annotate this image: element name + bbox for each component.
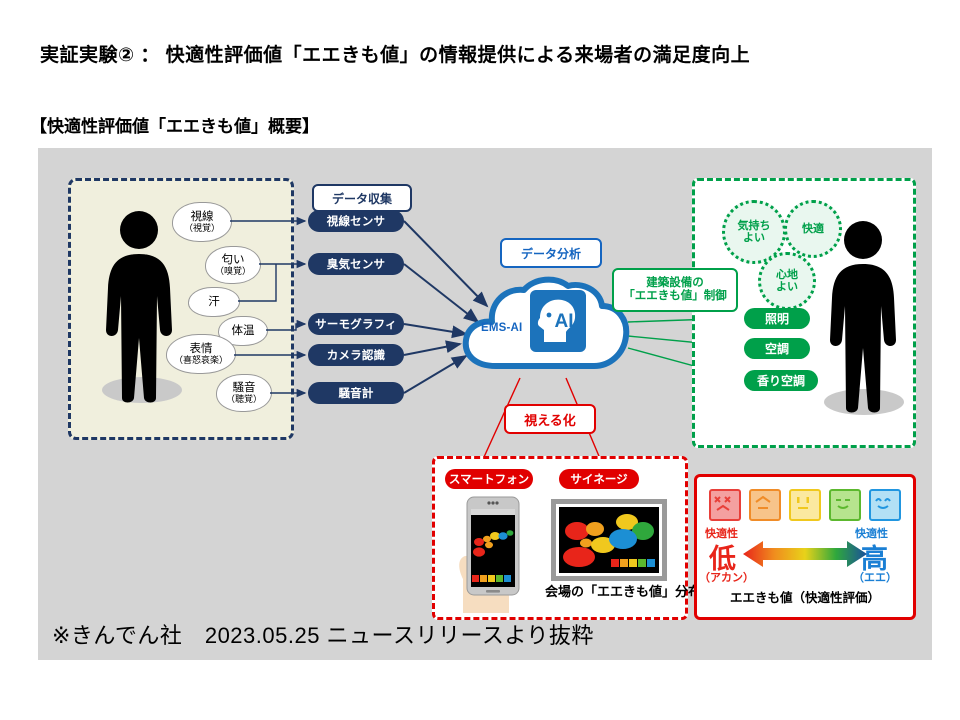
ai-brain-icon: AI [530, 290, 586, 352]
sensor-pill-camera[interactable]: カメラ認識 [308, 344, 404, 366]
signage-display-illustration [551, 499, 667, 581]
comfort-gradient-arrow [743, 539, 867, 569]
visualization-heading: 視える化 [504, 404, 596, 434]
sensor-pill-sound-meter[interactable]: 騒音計 [308, 382, 404, 404]
visualization-caption: 会場の「エエきも値」分布 [545, 581, 701, 600]
feeling-line1: 気持ち [738, 220, 771, 232]
building-control-heading: 建築設備の 「エエきも値」制御 [612, 268, 738, 312]
scale-caption: エエきも値（快適性評価） [697, 587, 913, 606]
device-pill-smartphone[interactable]: スマートフォン [445, 469, 533, 489]
device-pill-signage[interactable]: サイネージ [559, 469, 639, 489]
comfort-scale-panel: 快適性 低 （アカン） 快適性 高 （エエ） エエきも値（快適性評価） [694, 474, 916, 620]
ems-ai-cloud[interactable]: EMS-AI AI [460, 278, 630, 374]
feeling-line1: 快適 [802, 223, 824, 235]
sensor-pill-odor[interactable]: 臭気センサ [308, 253, 404, 275]
svg-text:AI: AI [555, 311, 574, 332]
smartphone-in-hand-illustration [453, 495, 543, 613]
control-heading-line2: 「エエきも値」制御 [623, 290, 727, 303]
output-pill-scent-hvac[interactable]: 香り空調 [744, 370, 818, 391]
person-silhouette-right [824, 218, 902, 418]
neutral-face-icon [789, 489, 821, 521]
control-heading-line1: 建築設備の [646, 277, 704, 290]
feeling-bubble-kokochiyoi: 心地 よい [758, 252, 816, 310]
output-pill-lighting[interactable]: 照明 [744, 308, 810, 329]
happy-face-icon [869, 489, 901, 521]
data-collection-heading: データ収集 [312, 184, 412, 212]
sensor-pill-gaze[interactable]: 視線センサ [308, 210, 404, 232]
slide-root: 実証実験② ： 快適性評価値「エエきも値」の情報提供による来場者の満足度向上 【… [0, 0, 960, 720]
scale-high-note: （エエ） [853, 569, 897, 585]
feeling-line2: よい [743, 232, 765, 244]
scale-low-note: （アカン） [699, 569, 754, 585]
sensor-pill-thermography[interactable]: サーモグラフィ [308, 313, 404, 335]
smile-face-icon [829, 489, 861, 521]
frown-face-icon [749, 489, 781, 521]
angry-face-icon [709, 489, 741, 521]
feeling-line1: 心地 [776, 269, 798, 281]
feeling-line2: よい [776, 281, 798, 293]
output-pill-hvac[interactable]: 空調 [744, 338, 810, 359]
visualization-panel: スマートフォン サイネージ [432, 456, 688, 620]
cloud-label: EMS-AI [481, 322, 522, 334]
data-analysis-heading: データ分析 [500, 238, 602, 268]
